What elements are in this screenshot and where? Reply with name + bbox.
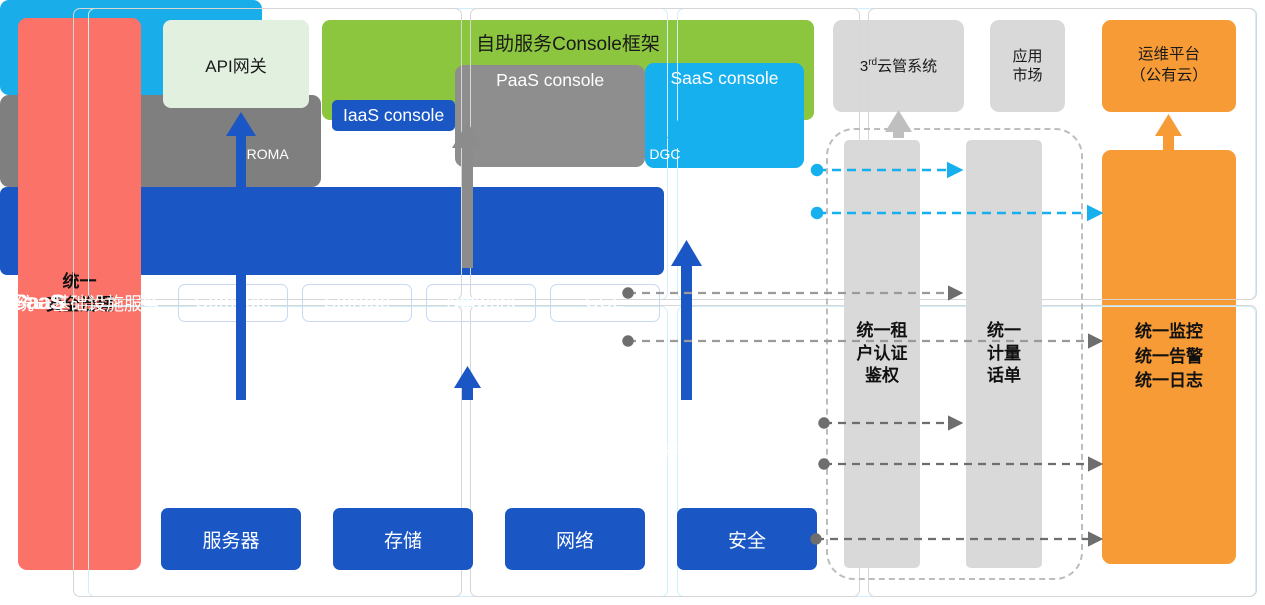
paas-service-roma[interactable]: ROMA [73, 8, 462, 300]
infra-service-network[interactable]: Network [426, 284, 536, 322]
resource-box-network[interactable]: 网络 [505, 508, 645, 570]
metering-line-1: 统一 [987, 320, 1021, 343]
shared-column-tenant-auth: 统一租 户认证 鉴权 [844, 140, 920, 568]
metering-line-3: 话单 [987, 365, 1021, 388]
tenant-auth-line-3: 鉴权 [857, 365, 908, 388]
tenant-auth-line-1: 统一租 [857, 320, 908, 343]
paas-service-dgc[interactable]: DGC [470, 8, 859, 300]
resource-box-server[interactable]: 服务器 [161, 508, 301, 570]
tenant-auth-line-2: 户认证 [857, 343, 908, 366]
infra-service-storage[interactable]: Storage [302, 284, 412, 322]
unified-infrastructure-label: 统一基础设施服务 [16, 290, 160, 316]
metering-line-2: 计量 [987, 343, 1021, 366]
infra-service-compute[interactable]: Compute [178, 284, 288, 322]
resource-box-storage[interactable]: 存储 [333, 508, 473, 570]
shared-column-metering-billing: 统一 计量 话单 [966, 140, 1042, 568]
infra-service-cce[interactable]: CCE [550, 284, 660, 322]
architecture-diagram: 统一 安全治理 API网关 自助服务Console框架 IaaS console… [0, 0, 1265, 605]
resource-box-security[interactable]: 安全 [677, 508, 817, 570]
infrastructure-chip-row: Compute Storage Network CCE [178, 284, 660, 322]
